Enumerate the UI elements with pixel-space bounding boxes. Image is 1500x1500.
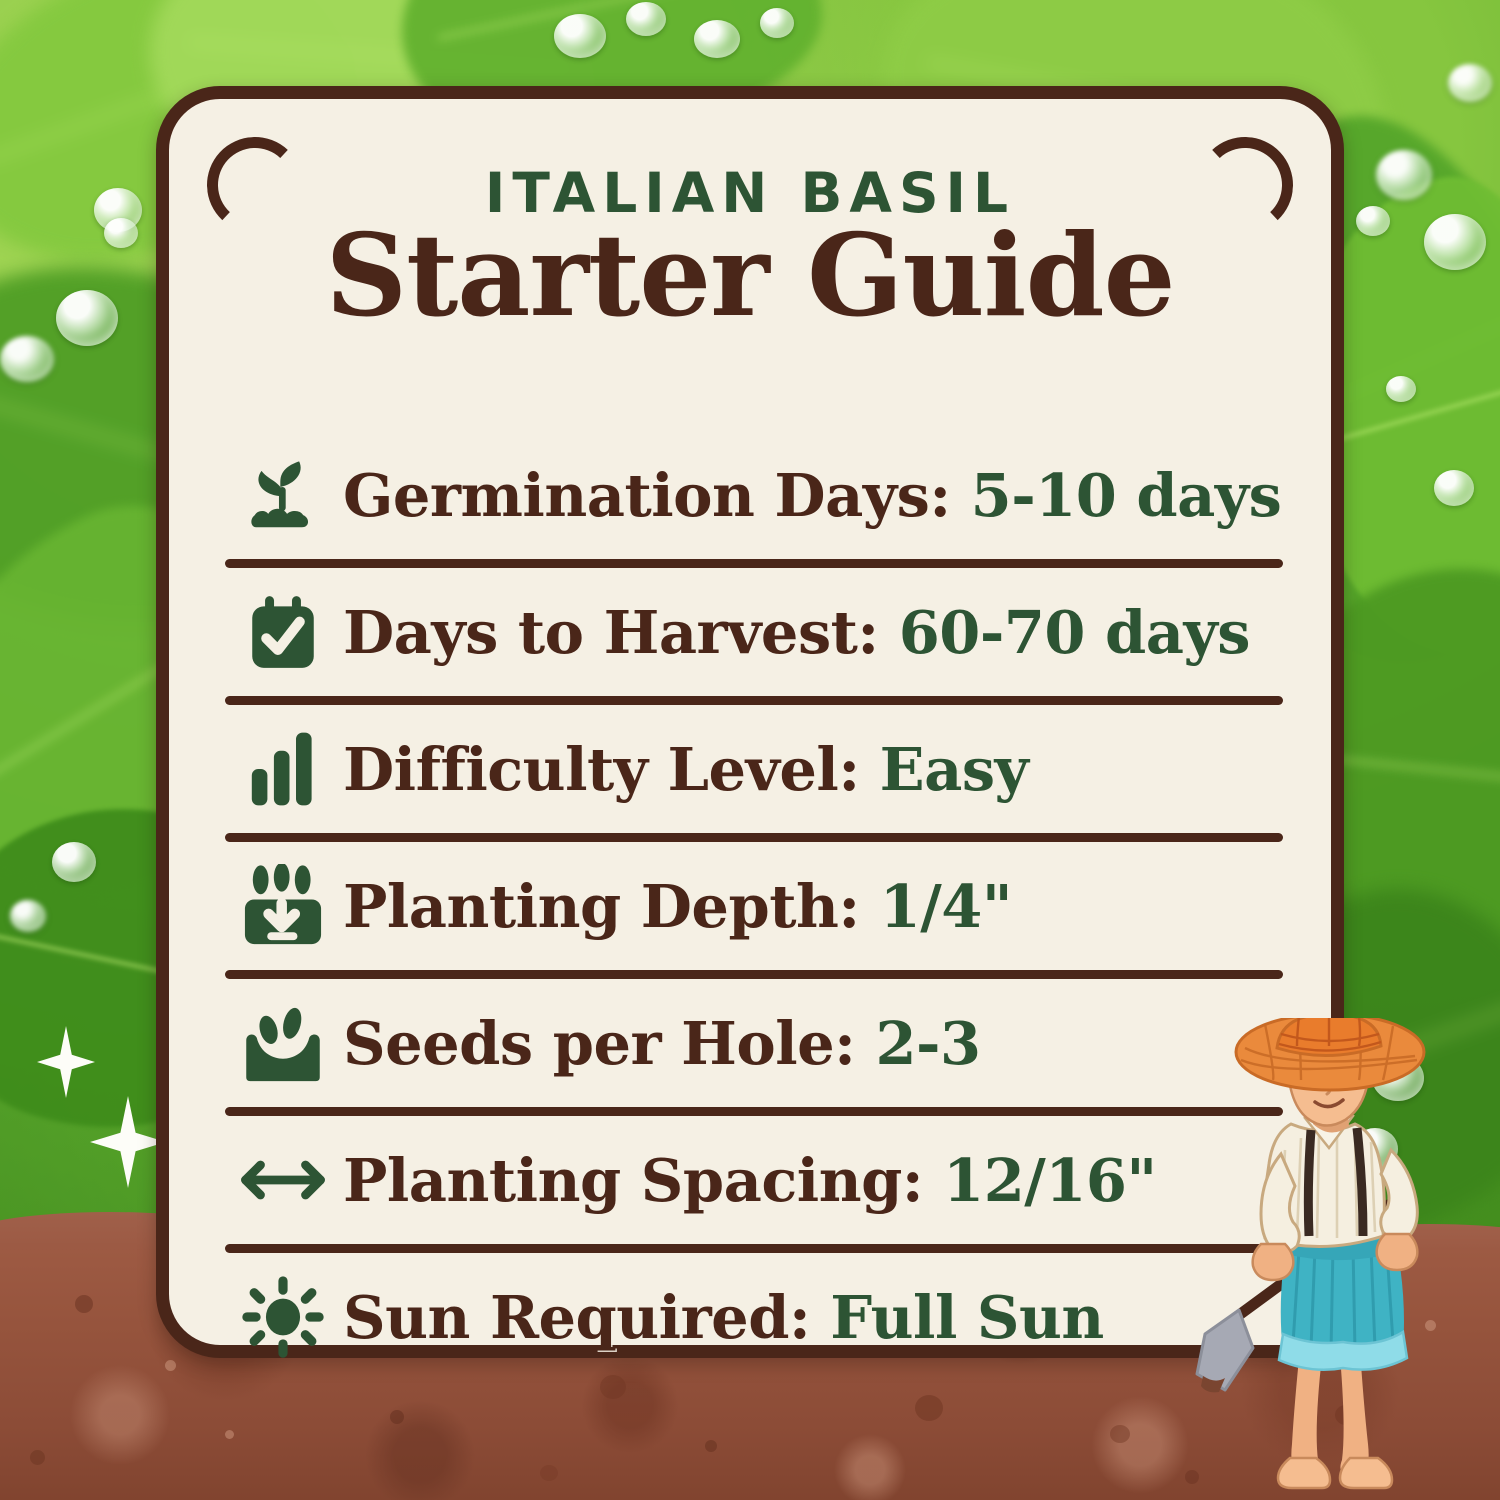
arrows-lr-icon: [223, 1152, 343, 1208]
water-droplet: [760, 8, 794, 38]
page-title: Starter Guide: [169, 215, 1331, 337]
seeds-hole-icon: [223, 1001, 343, 1085]
sun-icon: [223, 1275, 343, 1359]
fact-label: Seeds per Hole:: [343, 1009, 875, 1078]
row-divider: [225, 559, 1283, 568]
fact-value: 60-70 days: [899, 598, 1250, 667]
water-droplet: [1448, 64, 1492, 102]
starter-guide-card: ITALIAN BASIL Starter Guide Germination …: [156, 86, 1344, 1358]
fact-value: Full Sun: [830, 1283, 1104, 1352]
planting-depth-icon: [223, 864, 343, 948]
water-droplet: [1356, 206, 1390, 236]
fact-row-text: Seeds per Hole: 2-3: [343, 1009, 981, 1078]
fact-row-text: Germination Days: 5-10 days: [343, 461, 1281, 530]
water-droplet: [1434, 470, 1474, 506]
fact-row-sun-required: Sun Required: Full Sun: [217, 1253, 1291, 1381]
calendar-check-icon: [223, 591, 343, 673]
water-droplet: [56, 290, 118, 346]
seedling-icon: [223, 452, 343, 538]
fact-row-text: Days to Harvest: 60-70 days: [343, 598, 1250, 667]
water-droplet: [104, 218, 138, 248]
fact-label: Planting Depth:: [343, 872, 880, 941]
fact-value: 12/16": [943, 1146, 1157, 1215]
row-divider: [225, 1244, 1283, 1253]
water-droplet: [10, 900, 46, 932]
fact-row-text: Sun Required: Full Sun: [343, 1283, 1104, 1352]
fact-value: 2-3: [875, 1009, 980, 1078]
fact-row-text: Planting Spacing: 12/16": [343, 1146, 1157, 1215]
facts-list: Germination Days: 5-10 days Days to Harv…: [217, 431, 1291, 1381]
fact-row-days-to-harvest: Days to Harvest: 60-70 days: [217, 568, 1291, 696]
fact-label: Days to Harvest:: [343, 598, 899, 667]
water-droplet: [1376, 150, 1432, 200]
fact-label: Planting Spacing:: [343, 1146, 943, 1215]
water-droplet: [52, 842, 96, 882]
fact-value: 5-10 days: [971, 461, 1282, 530]
fact-row-germination-days: Germination Days: 5-10 days: [217, 431, 1291, 559]
poster-canvas: ITALIAN BASIL Starter Guide Germination …: [0, 0, 1500, 1500]
fact-row-text: Difficulty Level: Easy: [343, 735, 1028, 804]
fact-row-planting-spacing: Planting Spacing: 12/16": [217, 1116, 1291, 1244]
water-droplet: [554, 14, 606, 58]
fact-label: Sun Required:: [343, 1283, 830, 1352]
fact-label: Germination Days:: [343, 461, 971, 530]
row-divider: [225, 1107, 1283, 1116]
gardener-character: [1195, 1018, 1495, 1500]
water-droplet: [626, 2, 666, 36]
water-droplet: [1424, 214, 1486, 270]
fact-row-difficulty-level: Difficulty Level: Easy: [217, 705, 1291, 833]
fact-value: 1/4": [880, 872, 1012, 941]
row-divider: [225, 970, 1283, 979]
water-droplet: [1386, 376, 1416, 402]
water-droplet: [0, 336, 54, 382]
fact-row-seeds-per-hole: Seeds per Hole: 2-3: [217, 979, 1291, 1107]
row-divider: [225, 696, 1283, 705]
fact-row-planting-depth: Planting Depth: 1/4": [217, 842, 1291, 970]
fact-row-text: Planting Depth: 1/4": [343, 872, 1012, 941]
fact-value: Easy: [880, 735, 1029, 804]
bar-chart-icon: [223, 730, 343, 808]
fact-label: Difficulty Level:: [343, 735, 880, 804]
water-droplet: [694, 20, 740, 58]
row-divider: [225, 833, 1283, 842]
